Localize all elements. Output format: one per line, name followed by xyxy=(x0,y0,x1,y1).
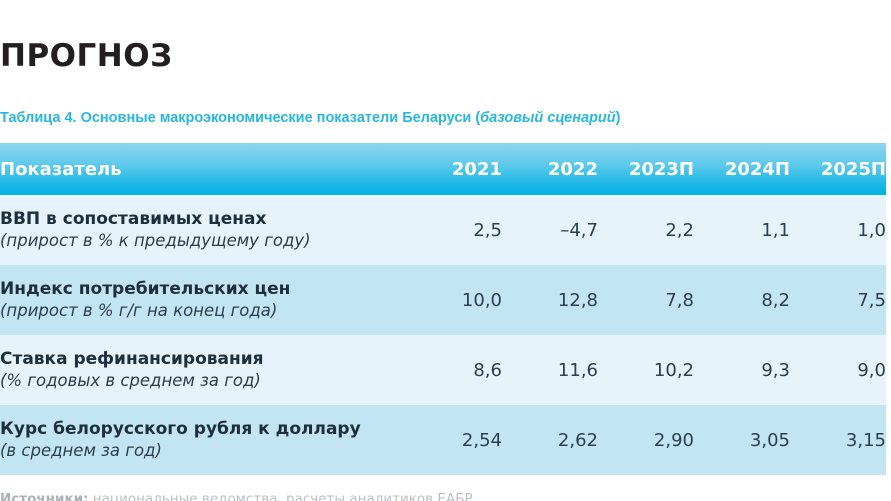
value-2022: 11,6 xyxy=(502,335,598,405)
table-caption: Таблица 4. Основные макроэкономические п… xyxy=(0,94,891,127)
column-header-2023p: 2023П xyxy=(598,143,694,195)
indicator-name: Ставка рефинансирования xyxy=(0,349,406,370)
macro-table-wrapper: Показатель 2021 2022 2023П 2024П 2025П В… xyxy=(0,143,891,475)
column-header-2021: 2021 xyxy=(406,143,502,195)
source-text: национальные ведомства, расчеты аналитик… xyxy=(88,491,476,501)
value-2025p: 3,15 xyxy=(790,405,886,475)
value-2023p: 2,90 xyxy=(598,405,694,475)
value-2025p: 9,0 xyxy=(790,335,886,405)
table-caption-prefix: Таблица 4. Основные макроэкономические п… xyxy=(0,110,480,126)
column-header-2025p: 2025П xyxy=(790,143,886,195)
row-indicator-cell: ВВП в сопоставимых ценах (прирост в % к … xyxy=(0,195,406,265)
row-indicator-cell: Ставка рефинансирования (% годовых в сре… xyxy=(0,335,406,405)
table-caption-scenario: базовый сценарий xyxy=(480,110,615,126)
table-body: ВВП в сопоставимых ценах (прирост в % к … xyxy=(0,195,886,475)
value-2025p: 1,0 xyxy=(790,195,886,265)
value-2021: 10,0 xyxy=(406,265,502,335)
macro-indicators-table: Показатель 2021 2022 2023П 2024П 2025П В… xyxy=(0,143,886,475)
value-2024p: 8,2 xyxy=(694,265,790,335)
value-2024p: 3,05 xyxy=(694,405,790,475)
indicator-unit: (в среднем за год) xyxy=(0,440,406,461)
value-2023p: 7,8 xyxy=(598,265,694,335)
value-2021: 8,6 xyxy=(406,335,502,405)
value-2023p: 2,2 xyxy=(598,195,694,265)
value-2022: –4,7 xyxy=(502,195,598,265)
value-2021: 2,54 xyxy=(406,405,502,475)
page-title: ПРОГНОЗ xyxy=(0,21,891,73)
indicator-name: Курс белорусского рубля к доллару xyxy=(0,419,406,440)
indicator-unit: (прирост в % г/г на конец года) xyxy=(0,300,406,321)
indicator-unit: (% годовых в среднем за год) xyxy=(0,370,406,391)
table-row: Индекс потребительских цен (прирост в % … xyxy=(0,265,886,335)
table-row: Курс белорусского рубля к доллару (в сре… xyxy=(0,405,886,475)
document-body: ПРОГНОЗ Таблица 4. Основные макроэкономи… xyxy=(0,0,891,501)
indicator-name: ВВП в сопоставимых ценах xyxy=(0,209,406,230)
table-row: ВВП в сопоставимых ценах (прирост в % к … xyxy=(0,195,886,265)
column-header-2024p: 2024П xyxy=(694,143,790,195)
value-2022: 12,8 xyxy=(502,265,598,335)
row-indicator-cell: Курс белорусского рубля к доллару (в сре… xyxy=(0,405,406,475)
value-2023p: 10,2 xyxy=(598,335,694,405)
value-2022: 2,62 xyxy=(502,405,598,475)
value-2021: 2,5 xyxy=(406,195,502,265)
column-header-2022: 2022 xyxy=(502,143,598,195)
table-row: Ставка рефинансирования (% годовых в сре… xyxy=(0,335,886,405)
value-2025p: 7,5 xyxy=(790,265,886,335)
page-root: ПРОГНОЗ Таблица 4. Основные макроэкономи… xyxy=(0,0,891,501)
source-note: Источники: национальные ведомства, расче… xyxy=(0,475,891,501)
table-header-row: Показатель 2021 2022 2023П 2024П 2025П xyxy=(0,143,886,195)
indicator-name: Индекс потребительских цен xyxy=(0,279,406,300)
column-header-indicator: Показатель xyxy=(0,143,406,195)
row-indicator-cell: Индекс потребительских цен (прирост в % … xyxy=(0,265,406,335)
indicator-unit: (прирост в % к предыдущему году) xyxy=(0,230,406,251)
table-header: Показатель 2021 2022 2023П 2024П 2025П xyxy=(0,143,886,195)
value-2024p: 1,1 xyxy=(694,195,790,265)
table-caption-suffix: ) xyxy=(616,110,621,126)
value-2024p: 9,3 xyxy=(694,335,790,405)
source-label: Источники: xyxy=(0,491,88,501)
